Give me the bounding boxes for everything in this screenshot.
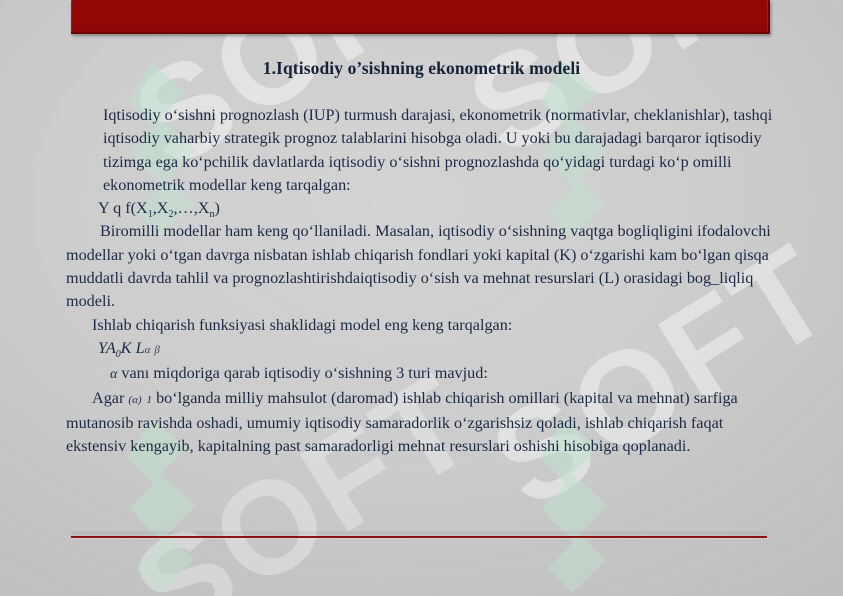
formula-suffix: ) [214,199,219,217]
agar-lead: Agar [92,389,128,407]
formula-mid-2: ,…,X [174,199,210,217]
bottom-rule-shadow [71,531,767,535]
formula2-exponent-alpha: α [145,344,151,356]
formula-cobb-douglas: YA0K Lαβ [66,337,778,362]
paragraph-agar: Agar (α)1 bo‘lganda milliy mahsulot (dar… [66,387,778,459]
agar-rest: bo‘lganda milliy mahsulot (daromad) ishl… [66,389,738,456]
slide-content: 1.Iqtisodiy o’sishning ekonometrik model… [0,0,843,596]
formula-prefix: Y q f(X [98,199,148,217]
formula-mid-1: ,X [153,199,169,217]
paragraph-biromilli: Biromilli modellar ham keng qo‘llaniladi… [66,220,778,313]
presentation-slide: SOFT SOFT SOFT SOFT [0,0,843,596]
formula2-rest: K L [121,339,145,357]
body-text-block: Iqtisodiy o‘sishni prognozlash (IUP) tur… [66,104,778,458]
page-title: 1.Iqtisodiy o’sishning ekonometrik model… [0,58,843,79]
paragraph-production-function: Ishlab chiqarish funksiyasi shaklidagi m… [66,314,778,337]
formula2-base: YA [98,339,116,357]
bottom-rule [71,536,767,538]
alpha-types-text: vanı miqdoriga qarab iqtisodiy o‘sishnin… [117,364,487,382]
formula2-exponent-beta: β [154,344,159,356]
paragraph-intro: Iqtisodiy o‘sishni prognozlash (IUP) tur… [66,104,778,197]
paragraph-alpha-types: α vanı miqdoriga qarab iqtisodiy o‘sishn… [66,362,778,386]
formula-multifactor: Y q f(X1,X2,…,Xn) [66,197,778,220]
agar-fragment-alpha: (α) [128,394,141,406]
